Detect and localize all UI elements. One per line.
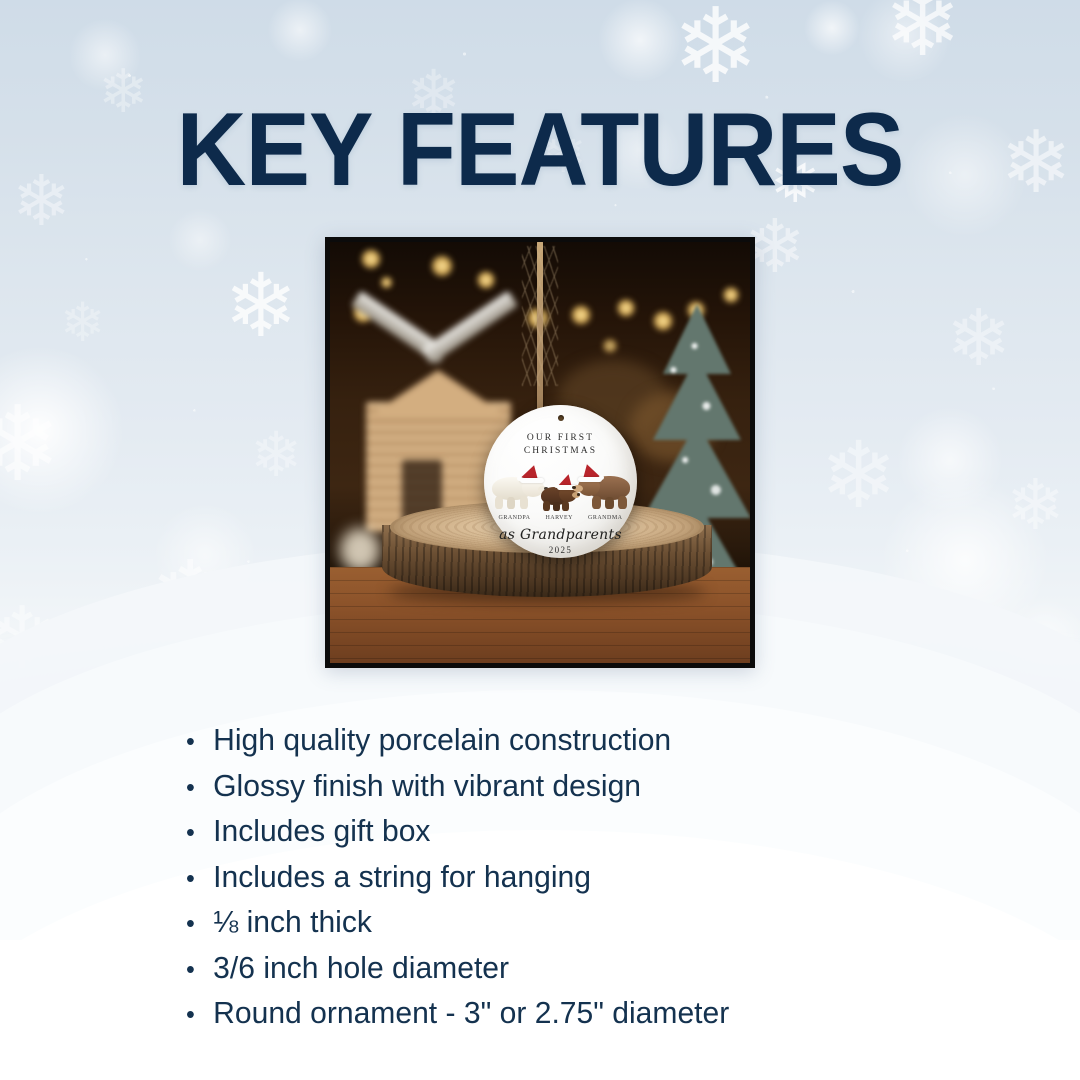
ceramic-ornament: OUR FIRST CHRISTMAS	[484, 405, 637, 558]
bear-name-grandpa: GRANDPA	[499, 515, 531, 521]
ornament-heading: OUR FIRST CHRISTMAS	[484, 432, 637, 458]
key-features-graphic: ❄ ❄ ❅ ❄ ❄ ❄ ❄ ❄ ❄ ❄ ❄ ❄ ❄ ❄ ❄ ❄ ❄ ❄ ❄ KE…	[0, 0, 1080, 1080]
list-item: • Includes gift box	[186, 809, 923, 855]
bokeh-light	[360, 248, 382, 270]
bear-grandma	[574, 467, 630, 509]
list-item: • 3/6 inch hole diameter	[186, 946, 923, 992]
bear-name-labels: GRANDPA HARVEY GRANDMA	[484, 515, 637, 521]
feature-label: High quality porcelain construction	[213, 718, 671, 762]
bullet-icon: •	[186, 811, 213, 855]
bear-grandpa	[492, 469, 546, 509]
bullet-icon: •	[186, 766, 213, 810]
bear-name-grandma: GRANDMA	[588, 515, 623, 521]
feature-label: Round ornament - 3" or 2.75" diameter	[213, 991, 729, 1035]
bear-family-illustration	[490, 461, 631, 511]
list-item: • Glossy finish with vibrant design	[186, 764, 923, 810]
bokeh-light	[430, 254, 454, 278]
silver-bauble-prop	[340, 528, 380, 572]
snowflake-icon: ❄	[946, 300, 1011, 378]
bullet-icon: •	[186, 720, 213, 764]
bullet-icon: •	[186, 993, 213, 1037]
list-item: • High quality porcelain construction	[186, 718, 923, 764]
snowflake-icon: ❄	[672, 0, 759, 98]
bullet-icon: •	[186, 857, 213, 901]
bokeh-light	[602, 338, 618, 354]
bokeh-light	[722, 286, 740, 304]
bullet-icon: •	[186, 948, 213, 992]
product-photo: OUR FIRST CHRISTMAS	[325, 237, 755, 668]
feature-label: Includes a string for hanging	[213, 855, 591, 899]
feature-label: ⅛ inch thick	[213, 900, 372, 944]
page-title: KEY FEATURES	[38, 98, 1042, 202]
bokeh-light	[476, 270, 496, 290]
feature-label: Includes gift box	[213, 809, 430, 853]
jute-string-fibers	[522, 246, 558, 386]
feature-label: Glossy finish with vibrant design	[213, 764, 641, 808]
bokeh-light	[570, 304, 592, 326]
list-item: • Includes a string for hanging	[186, 855, 923, 901]
feature-label: 3/6 inch hole diameter	[213, 946, 509, 990]
bokeh-light	[616, 298, 636, 318]
bokeh-light	[380, 276, 393, 289]
bear-name-harvey: HARVEY	[545, 515, 573, 521]
ornament-year: 2025	[484, 545, 637, 555]
bullet-icon: •	[186, 902, 213, 946]
snowflake-icon: ❄	[884, 0, 961, 70]
feature-list: • High quality porcelain construction • …	[186, 718, 946, 1037]
ornament-script-text: as Grandparents	[484, 527, 637, 543]
list-item: • Round ornament - 3" or 2.75" diameter	[186, 991, 923, 1037]
snowflake-icon: ❄	[60, 296, 105, 350]
product-photo-image: OUR FIRST CHRISTMAS	[330, 242, 750, 663]
snowflake-icon: ❄	[224, 262, 298, 350]
list-item: • ⅛ inch thick	[186, 900, 923, 946]
